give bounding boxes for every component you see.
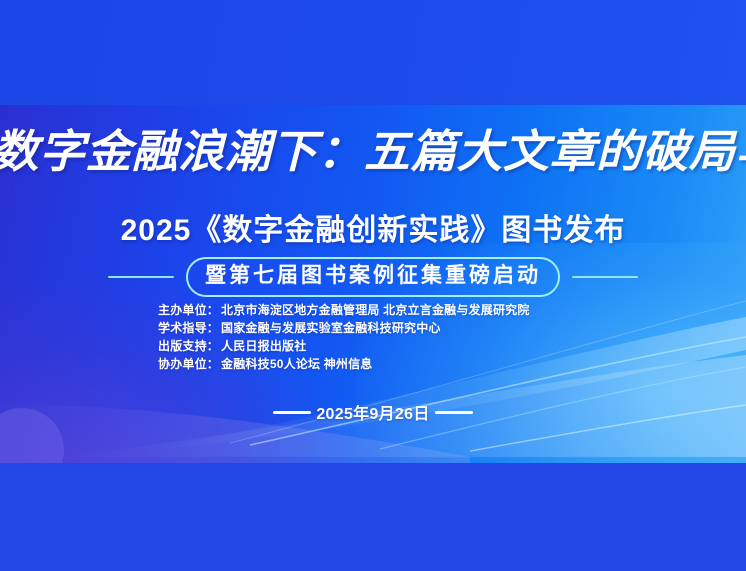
sub-title: 2025《数字金融创新实践》图书发布 bbox=[0, 205, 746, 249]
organizer-value: 金融科技50人论坛 神州信息 bbox=[221, 357, 372, 371]
bottom-background-band bbox=[0, 463, 746, 571]
banner-content: 数字金融浪潮下：五篇大文章的破局与重构 2025《数字金融创新实践》图书发布 暨… bbox=[0, 105, 746, 463]
organizer-label: 协办单位： bbox=[158, 357, 219, 371]
top-background-band bbox=[0, 0, 746, 106]
date-left-rule bbox=[273, 411, 311, 414]
date-right-rule bbox=[435, 411, 473, 414]
organizer-label: 出版支持： bbox=[158, 339, 219, 353]
organizer-list: 主办单位：北京市海淀区地方金融管理局 北京立言金融与发展研究院 学术指导：国家金… bbox=[158, 301, 598, 373]
poster-page: 数字金融浪潮下：五篇大文章的破局与重构 2025《数字金融创新实践》图书发布 暨… bbox=[0, 0, 746, 571]
organizer-label: 学术指导： bbox=[158, 321, 219, 335]
pill-right-rule bbox=[572, 276, 638, 278]
organizer-value: 人民日报出版社 bbox=[221, 339, 306, 353]
pill-left-rule bbox=[108, 276, 174, 278]
page-title: 数字金融浪潮下：五篇大文章的破局与重构 bbox=[0, 123, 746, 181]
launch-pill-label: 暨第七届图书案例征集重磅启动 bbox=[186, 257, 560, 297]
organizer-label: 主办单位： bbox=[158, 303, 219, 317]
pill-row: 暨第七届图书案例征集重磅启动 bbox=[0, 257, 746, 297]
organizer-row: 协办单位：金融科技50人论坛 神州信息 bbox=[158, 355, 598, 373]
organizer-row: 学术指导：国家金融与发展实验室金融科技研究中心 bbox=[158, 319, 598, 337]
organizer-row: 出版支持：人民日报出版社 bbox=[158, 337, 598, 355]
event-date-row: 2025年9月26日 bbox=[0, 400, 746, 424]
organizer-value: 国家金融与发展实验室金融科技研究中心 bbox=[221, 321, 441, 335]
organizer-value: 北京市海淀区地方金融管理局 北京立言金融与发展研究院 bbox=[221, 303, 530, 317]
event-date: 2025年9月26日 bbox=[316, 400, 429, 424]
organizer-row: 主办单位：北京市海淀区地方金融管理局 北京立言金融与发展研究院 bbox=[158, 301, 598, 319]
